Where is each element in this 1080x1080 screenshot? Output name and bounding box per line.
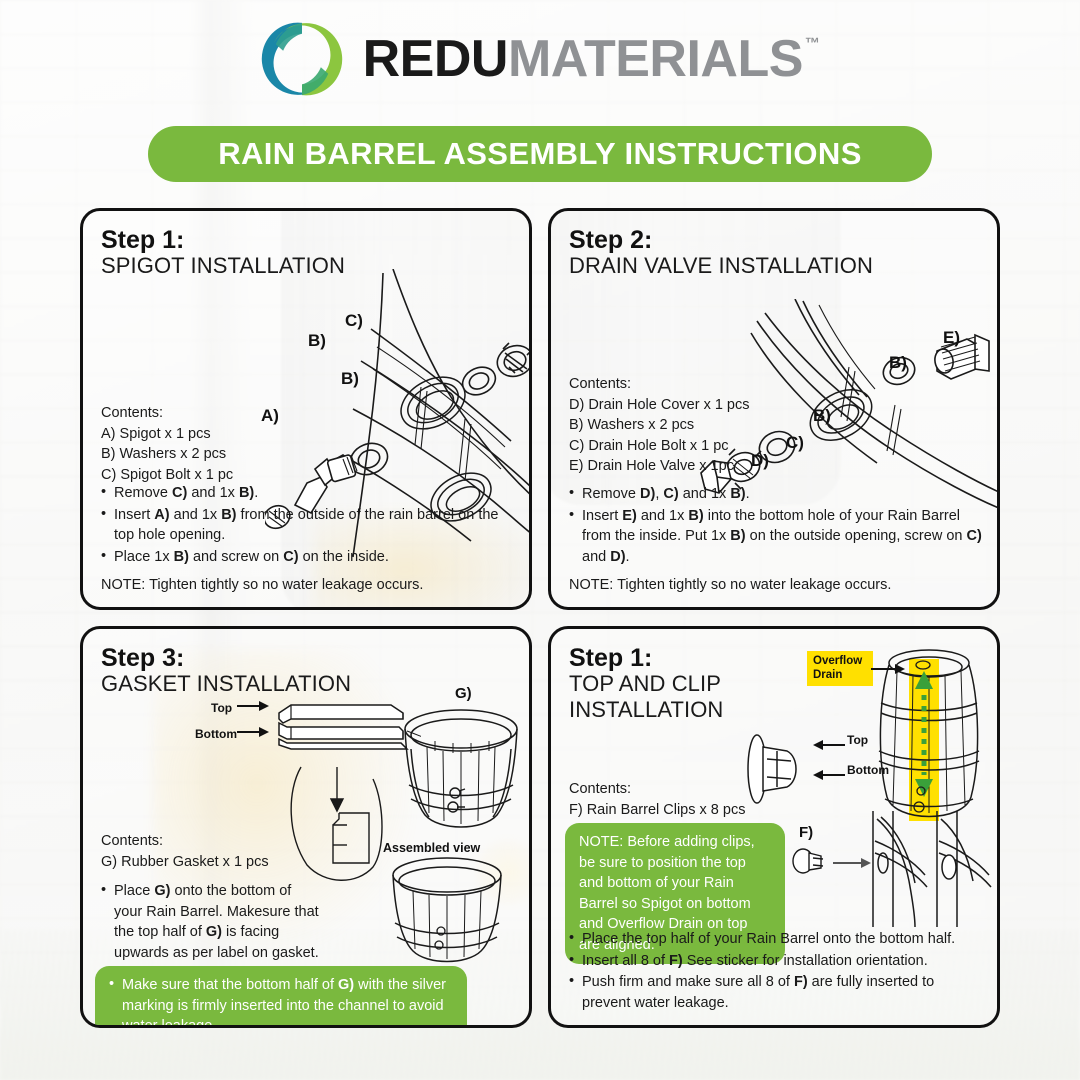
bullet-item: Remove C) and 1x B).: [101, 483, 513, 504]
page-title: RAIN BARREL ASSEMBLY INSTRUCTIONS: [218, 136, 862, 172]
panel-step-2-drain-valve: Step 2: DRAIN VALVE INSTALLATION Content…: [548, 208, 1000, 610]
panel-step-4-top-and-clip: Overflow Drain: [548, 626, 1000, 1028]
bullet-item: Place G) onto the bottom of your Rain Ba…: [101, 881, 321, 963]
instruction-panel-grid: C) B) Step 1: SPIGOT INSTALLATION Conten…: [80, 208, 1000, 1030]
art-label-b-left: B): [341, 369, 359, 389]
bullet-item: Place the top half of your Rain Barrel o…: [569, 929, 969, 950]
instruction-bullets: Place the top half of your Rain Barrel o…: [569, 929, 969, 1014]
contents-item: D) Drain Hole Cover x 1 pcs: [569, 395, 819, 416]
step-title: GASKET INSTALLATION: [101, 671, 511, 697]
panel-step-3-gasket: Top Bottom: [80, 626, 532, 1028]
wordmark-redu: REDU: [363, 29, 508, 89]
art-label-a: A): [261, 406, 279, 426]
page-title-banner: RAIN BARREL ASSEMBLY INSTRUCTIONS: [148, 126, 932, 182]
contents-item: G) Rubber Gasket x 1 pcs: [101, 852, 331, 873]
instruction-bullets: Remove D), C) and 1x B). Insert E) and 1…: [569, 484, 983, 568]
contents-item: B) Washers x 2 pcs: [569, 415, 819, 436]
step-label: Step 1:: [101, 227, 511, 253]
step-title: SPIGOT INSTALLATION: [101, 253, 511, 279]
callout-text: Make sure that the bottom half of G) wit…: [109, 975, 453, 1028]
contents-item: A) Spigot x 1 pcs: [101, 424, 331, 445]
wordmark-materials: MATERIALS: [508, 29, 803, 89]
art-label-c: C): [786, 433, 804, 453]
contents-list: Contents: G) Rubber Gasket x 1 pcs: [101, 831, 331, 872]
contents-list: Contents: D) Drain Hole Cover x 1 pcs B)…: [569, 374, 819, 477]
brand-wordmark: REDU MATERIALS ™: [363, 29, 820, 89]
panel-step-1-spigot: C) B) Step 1: SPIGOT INSTALLATION Conten…: [80, 208, 532, 610]
redu-swirl-logo-icon: [261, 18, 343, 100]
contents-heading: Contents:: [101, 403, 331, 424]
contents-item: F) Rain Barrel Clips x 8 pcs: [569, 800, 799, 821]
art-label-b-right: B): [889, 353, 907, 373]
bullet-item: Push firm and make sure all 8 of F) are …: [569, 972, 969, 1013]
contents-item: C) Drain Hole Bolt x 1 pc: [569, 436, 819, 457]
brand-header: REDU MATERIALS ™: [0, 0, 1080, 118]
highlight-callout: Make sure that the bottom half of G) wit…: [95, 966, 467, 1028]
instruction-bullets: Place G) onto the bottom of your Rain Ba…: [101, 881, 321, 964]
contents-heading: Contents:: [101, 831, 331, 852]
contents-heading: Contents:: [569, 779, 799, 800]
step-title: TOP AND CLIP INSTALLATION: [569, 671, 789, 722]
contents-list: Contents: F) Rain Barrel Clips x 8 pcs: [569, 779, 799, 820]
contents-list: Contents: A) Spigot x 1 pcs B) Washers x…: [101, 403, 331, 485]
contents-item: E) Drain Hole Valve x 1pc: [569, 456, 819, 477]
trademark-symbol: ™: [805, 35, 820, 52]
art-label-e: E): [943, 328, 960, 348]
step-label: Step 3:: [101, 645, 511, 671]
bullet-item: Insert A) and 1x B) from the outside of …: [101, 505, 513, 546]
bullet-item: Insert all 8 of F) See sticker for insta…: [569, 951, 969, 972]
step-title: DRAIN VALVE INSTALLATION: [569, 253, 979, 279]
step-label: Step 2:: [569, 227, 979, 253]
contents-item: B) Washers x 2 pcs: [101, 444, 331, 465]
art-label-b-left: B): [813, 406, 831, 426]
panel-note: NOTE: Tighten tightly so no water leakag…: [569, 575, 983, 596]
bullet-item: Place 1x B) and screw on C) on the insid…: [101, 547, 513, 568]
contents-heading: Contents:: [569, 374, 819, 395]
bullet-item: Remove D), C) and 1x B).: [569, 484, 983, 505]
panel-note: NOTE: Tighten tightly so no water leakag…: [101, 575, 513, 596]
bullet-item: Insert E) and 1x B) into the bottom hole…: [569, 506, 983, 568]
art-label-d: D): [751, 451, 769, 471]
step-label: Step 1:: [569, 645, 979, 671]
instruction-bullets: Remove C) and 1x B). Insert A) and 1x B)…: [101, 483, 513, 568]
